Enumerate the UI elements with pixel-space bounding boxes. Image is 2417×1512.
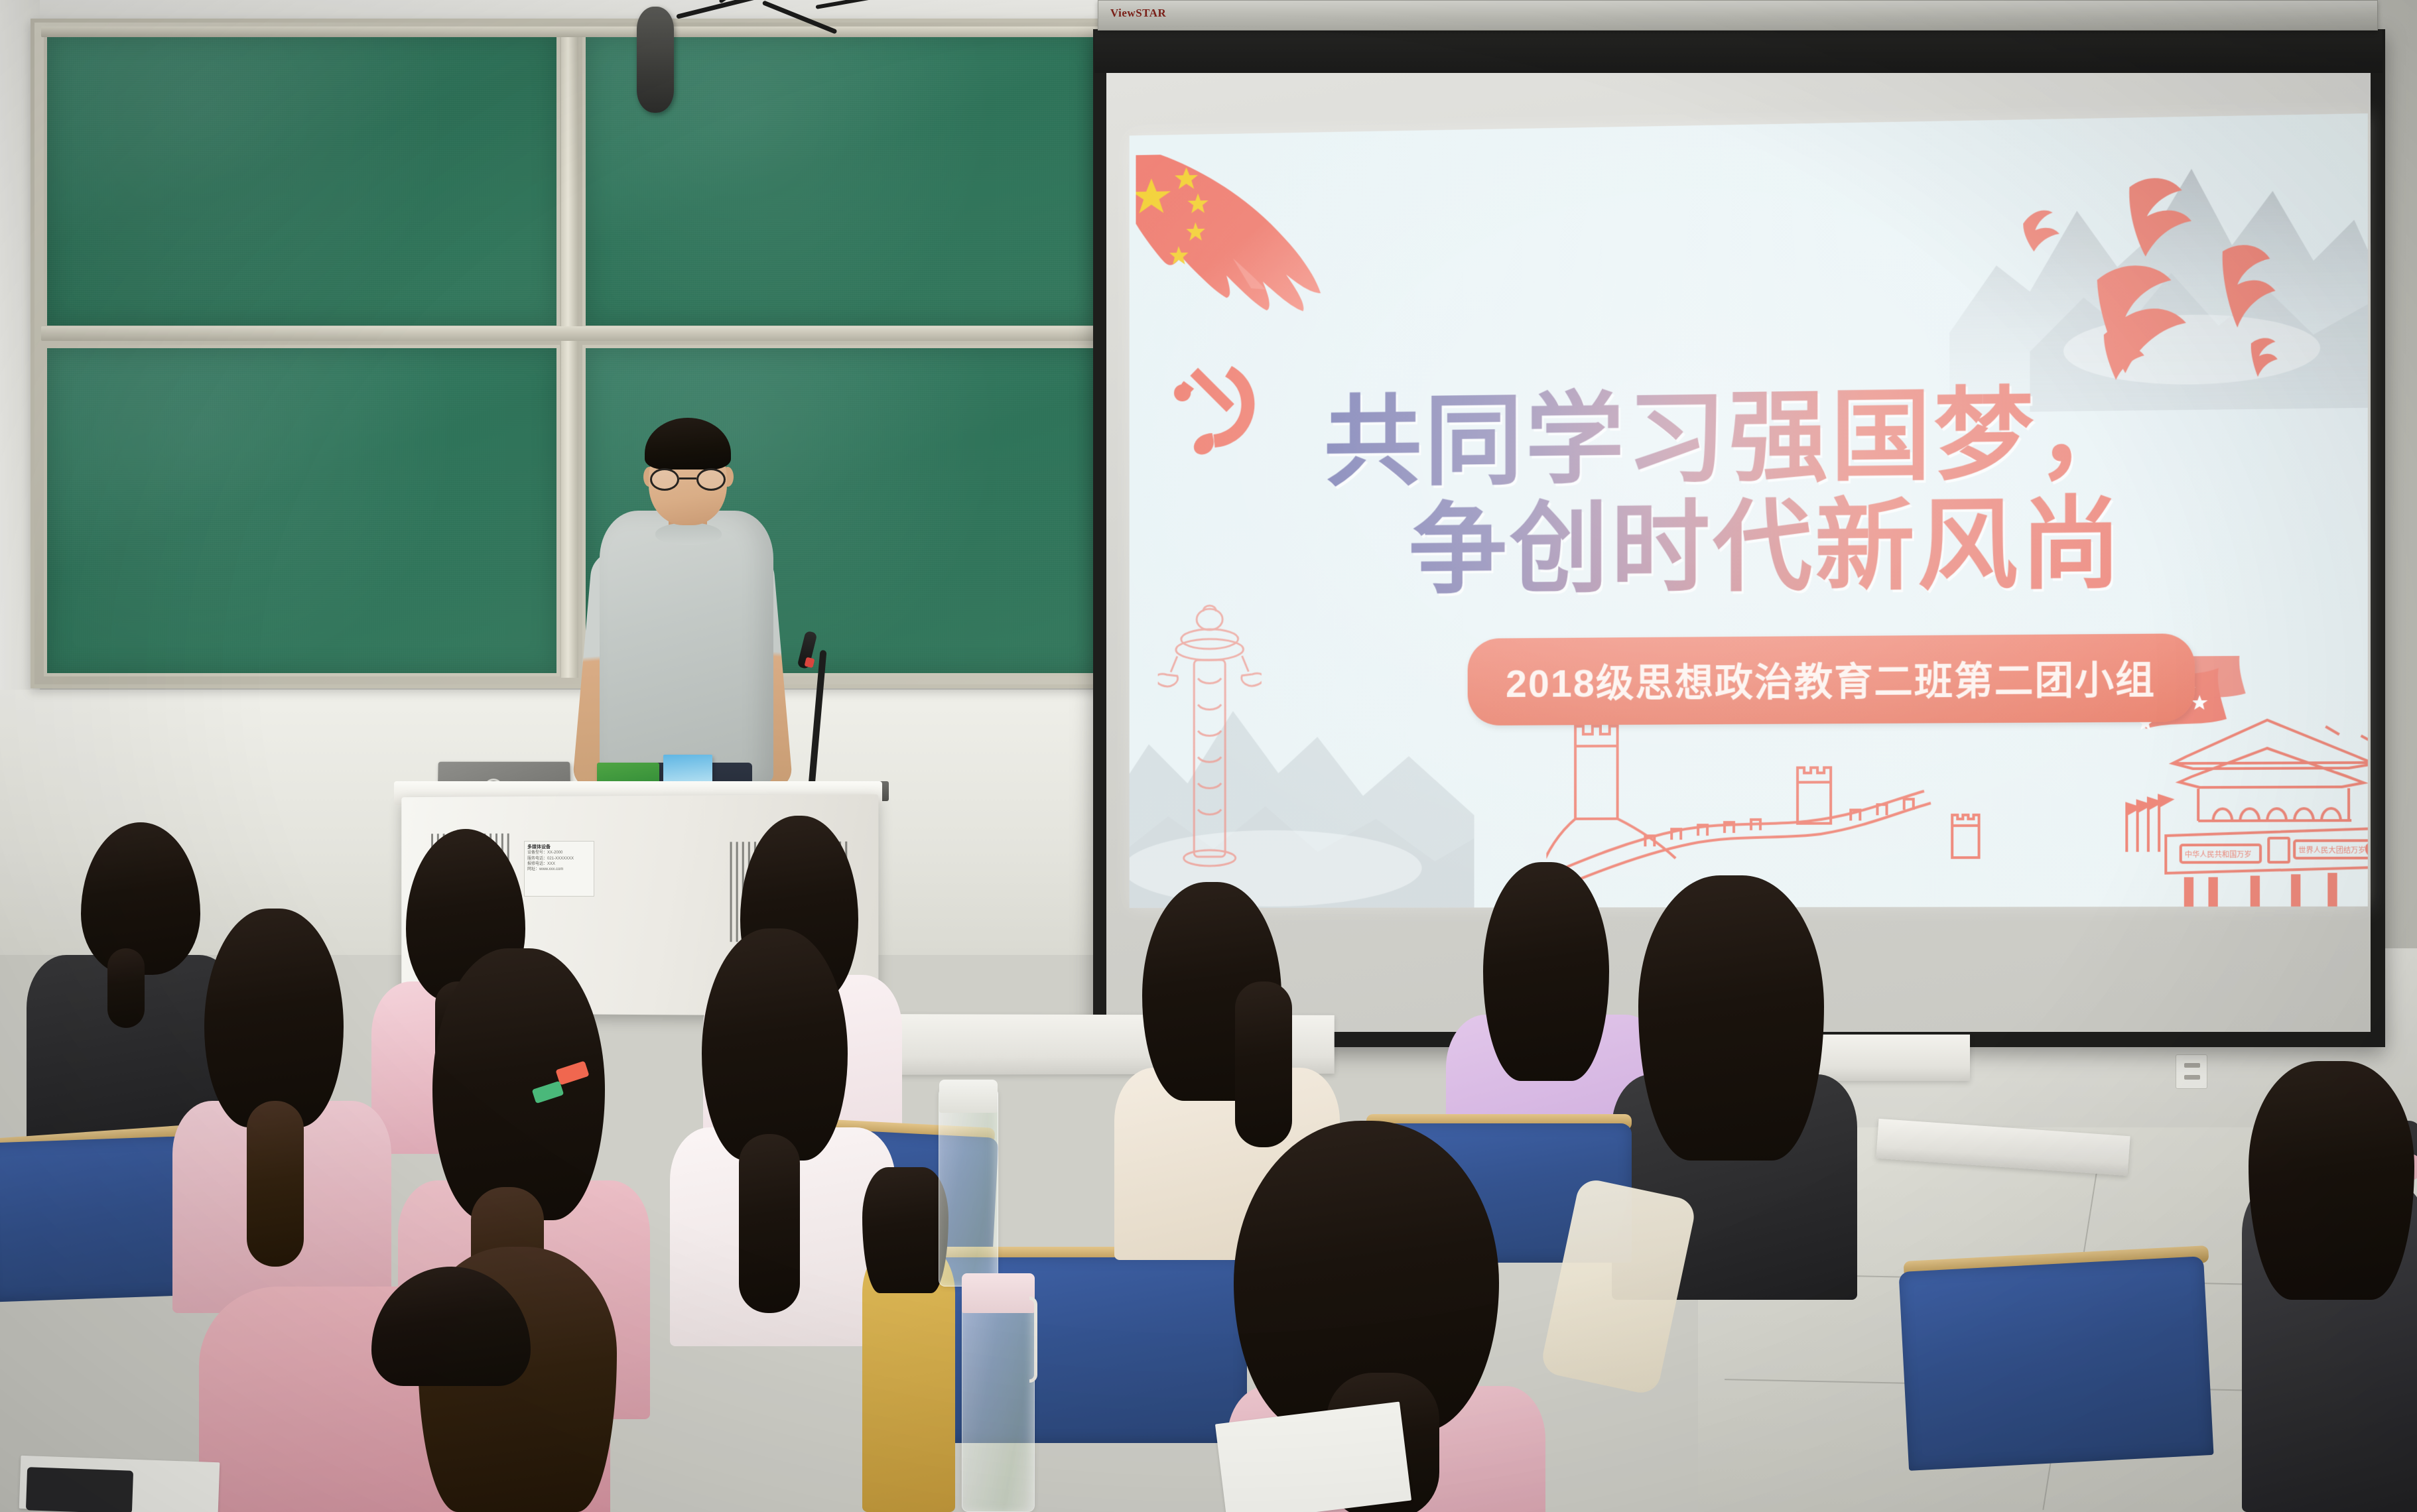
tiananmen-banner-right-text: 世界人民大团结万岁: [2298, 846, 2365, 855]
eyeglasses-icon: [649, 468, 727, 491]
presenter-torso: [600, 511, 773, 783]
slide-subtitle-badge: 2018级思想政治教育二班第二团小组: [1468, 633, 2195, 725]
chalkboard-rail-top: [41, 27, 1113, 37]
student-hair: [702, 928, 848, 1161]
water-bottle-2[interactable]: [962, 1293, 1035, 1512]
chalkboard-panel-bottom-left: [44, 345, 560, 676]
student-hair: [862, 1167, 948, 1293]
student-hair-tail: [107, 948, 145, 1028]
water-bottle-1-cap[interactable]: [939, 1080, 998, 1113]
slide-title-block: 共同学习强国梦， 争创时代新风尚: [1324, 377, 2254, 605]
student-right-edge-dark: [2242, 1061, 2417, 1512]
water-bottle-2-cap[interactable]: [962, 1273, 1035, 1313]
projection-screen-top-bar: [1094, 29, 2383, 73]
lecture-chair[interactable]: [1898, 1256, 2213, 1471]
screen-brand-logo: ViewSTAR: [1110, 7, 1166, 20]
water-bottle-1[interactable]: [939, 1088, 998, 1287]
student-hair-tail: [739, 1134, 800, 1313]
classroom-scene: ViewSTAR: [0, 0, 2417, 1512]
student-row2-pink-braid: [172, 909, 391, 1306]
slide-title-line-1: 共同学习强国梦，: [1324, 377, 2254, 497]
presentation-slide: 中华人民共和国万岁 世界人民大团结万岁 共同学习强国梦， 争创时代新风尚 201…: [1130, 113, 2368, 908]
slide-title-line-2: 争创时代新风尚: [1324, 487, 2254, 605]
student-hair: [2249, 1061, 2414, 1300]
student-hair: [1638, 875, 1824, 1161]
power-outlet[interactable]: [2176, 1054, 2207, 1089]
chalkboard-panel-top-left: [44, 32, 560, 329]
student-row2-white: [670, 928, 895, 1340]
huabiao-column-icon: [1158, 593, 1262, 882]
chinese-flag-brush-icon: [1136, 151, 1350, 345]
communist-party-emblem-icon: [1161, 356, 1265, 456]
student-hair-tail: [247, 1101, 304, 1267]
ceiling-microphone: [637, 7, 674, 113]
presenter-collar: [655, 523, 722, 545]
student-hair: [1483, 862, 1609, 1081]
student-hair: [371, 1267, 531, 1386]
chalkboard-rail: [41, 326, 1113, 341]
smartphone[interactable]: [26, 1467, 133, 1512]
slide-subtitle-text: 2018级思想政治教育二班第二团小组: [1506, 659, 2156, 706]
bottle-strap: [1029, 1296, 1037, 1383]
presenter-hair: [645, 418, 731, 470]
tiananmen-banner-left-text: 中华人民共和国万岁: [2185, 850, 2252, 859]
projection-screen-housing[interactable]: ViewSTAR: [1098, 0, 2378, 31]
student-front-small-head: [371, 1267, 531, 1386]
student-hair: [204, 909, 344, 1127]
student-hair: [432, 948, 605, 1220]
flying-doves-icon: [2003, 174, 2327, 407]
